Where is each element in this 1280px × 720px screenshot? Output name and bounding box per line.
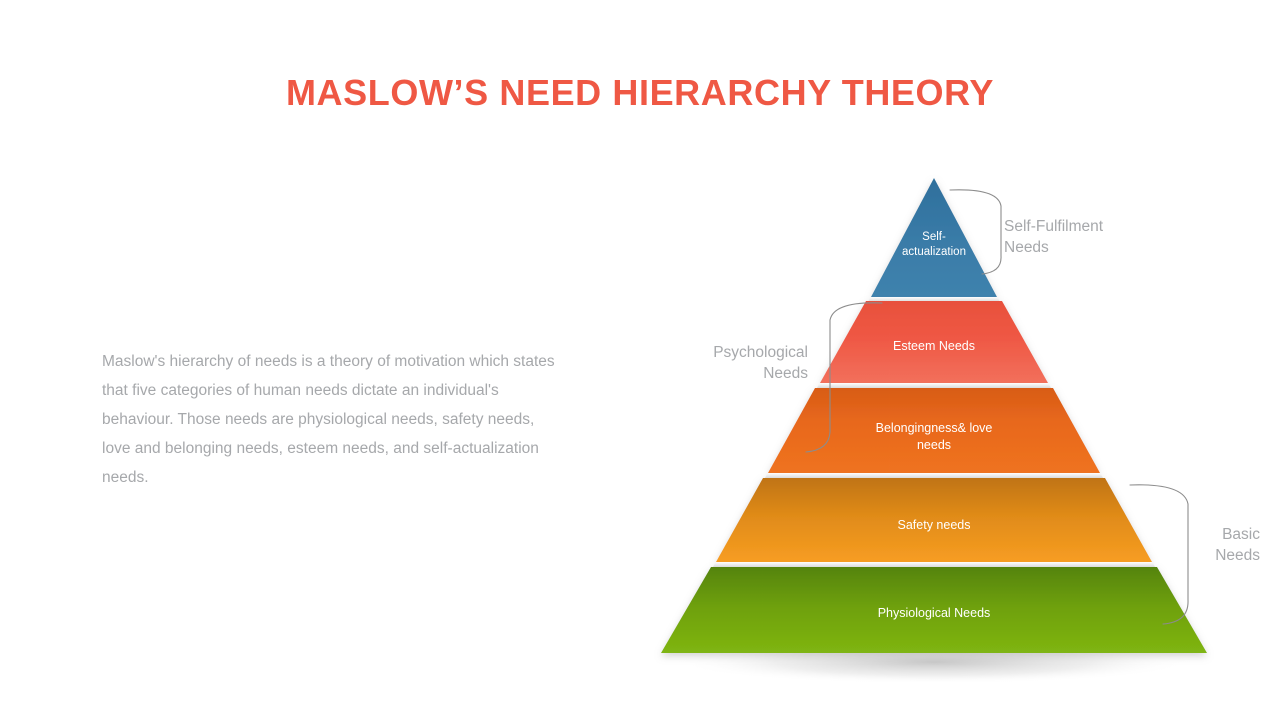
tier-belongingness-label-line2: needs [917, 438, 951, 452]
description-paragraph: Maslow's hierarchy of needs is a theory … [102, 347, 562, 492]
group-label-self-fulfilment-line1: Self-Fulfilment [1004, 216, 1174, 237]
tier-physiological[interactable]: Physiological Needs [661, 567, 1207, 653]
tier-self-actualization-label-line1: Self- [922, 231, 946, 243]
group-label-psychological-line1: Psychological [640, 342, 808, 363]
tier-self-actualization-label-line2: actualization [902, 246, 966, 258]
slide-canvas: MASLOW’S NEED HIERARCHY THEORY Maslow's … [0, 0, 1280, 720]
tier-belongingness[interactable]: Belongingness& love needs [768, 388, 1100, 473]
group-label-self-fulfilment: Self-Fulfilment Needs [1004, 216, 1174, 258]
tier-belongingness-label-line1: Belongingness& love [876, 421, 993, 435]
group-label-self-fulfilment-line2: Needs [1004, 237, 1174, 258]
maslow-pyramid-diagram: Self- actualization Esteem Needs Belongi… [620, 160, 1260, 690]
group-label-basic-line2: Needs [1150, 545, 1260, 566]
group-label-basic-line1: Basic [1150, 524, 1260, 545]
group-label-psychological: Psychological Needs [640, 342, 808, 384]
tier-safety-label: Safety needs [898, 518, 971, 532]
tier-self-actualization[interactable]: Self- actualization [871, 178, 997, 297]
tier-physiological-label: Physiological Needs [878, 606, 991, 620]
page-title: MASLOW’S NEED HIERARCHY THEORY [0, 72, 1280, 114]
tier-esteem[interactable]: Esteem Needs [820, 301, 1048, 383]
tier-esteem-label: Esteem Needs [893, 339, 975, 353]
group-label-psychological-line2: Needs [640, 363, 808, 384]
tier-safety[interactable]: Safety needs [716, 478, 1152, 562]
group-label-basic: Basic Needs [1150, 524, 1260, 566]
